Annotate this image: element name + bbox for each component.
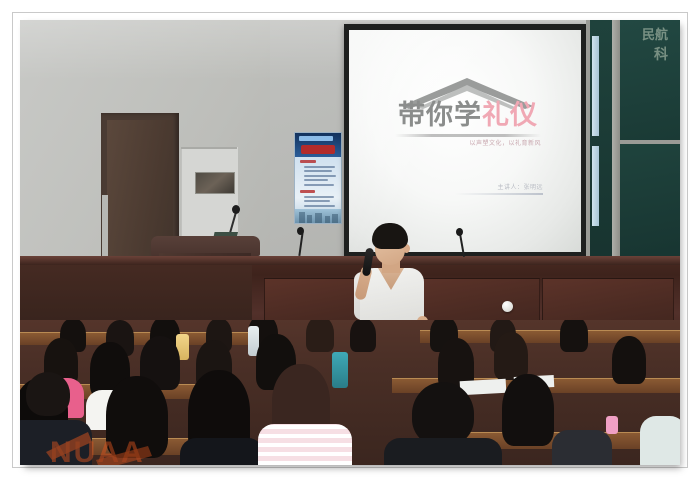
slide-title-pink: 礼仪 bbox=[482, 100, 538, 131]
chalkboard-glass-strip bbox=[592, 36, 599, 136]
wall-poster bbox=[294, 132, 342, 224]
audience-person-top bbox=[384, 438, 502, 465]
poster-text-line bbox=[304, 184, 334, 186]
small-item-pink bbox=[606, 416, 618, 434]
chalk-writing-line-1: 民航 bbox=[642, 24, 668, 43]
poster-building bbox=[299, 212, 305, 223]
audience-person bbox=[306, 320, 334, 352]
poster-text-line bbox=[304, 166, 335, 168]
poster-building bbox=[332, 214, 338, 223]
poster-section-heading bbox=[300, 160, 316, 163]
slide-title-underline bbox=[395, 134, 541, 137]
audience-person bbox=[612, 336, 646, 384]
audience-person-head bbox=[412, 382, 474, 446]
stage-mic-head bbox=[456, 228, 463, 236]
chalk-writing-line-2: 科 bbox=[654, 44, 668, 64]
chalkboard-divider bbox=[612, 20, 620, 270]
projection-screen: 带你学礼仪 以声塑文化，以礼育新风 主讲人：张明远 bbox=[349, 30, 581, 252]
chalkboard-lower-panel bbox=[620, 144, 680, 268]
poster-building bbox=[307, 215, 312, 223]
poster-text-line bbox=[304, 175, 336, 177]
audience-person bbox=[350, 320, 376, 352]
poster-text-line bbox=[304, 196, 334, 198]
stage-mic-head bbox=[297, 227, 304, 235]
gooseneck-mic-head bbox=[232, 205, 240, 214]
audience-person bbox=[494, 332, 528, 380]
slide-subtitle: 以声塑文化，以礼育新风 bbox=[435, 138, 541, 147]
slide-presenter: 主讲人：张明远 bbox=[457, 182, 543, 191]
wall-panel-top-rail bbox=[181, 147, 237, 149]
lecture-hall-photo: 带你学礼仪 以声塑文化，以礼育新风 主讲人：张明远 民航 科 bbox=[20, 20, 680, 465]
poster-section-heading bbox=[300, 190, 315, 193]
stage-speaker-knob bbox=[502, 301, 513, 312]
poster-text-line bbox=[304, 205, 335, 207]
poster-text-line bbox=[304, 200, 330, 202]
audience-area: NUAA bbox=[20, 320, 680, 465]
slide-title-gray: 带你学 bbox=[398, 100, 482, 131]
audience-person-foreground bbox=[502, 374, 554, 446]
stage-ledge bbox=[20, 256, 680, 265]
audience-person-top bbox=[180, 438, 264, 465]
audience-patterned-top bbox=[258, 424, 352, 465]
audience-bag bbox=[640, 416, 680, 465]
audience-person bbox=[560, 320, 588, 352]
speaker-right-sleeve bbox=[414, 272, 430, 320]
poster-text-line bbox=[304, 170, 332, 172]
audience-person-head bbox=[26, 372, 70, 416]
watermark: NUAA bbox=[28, 428, 178, 465]
slide-title: 带你学礼仪 bbox=[395, 100, 541, 132]
poster-building bbox=[315, 213, 322, 223]
water-bottle-teal bbox=[332, 352, 348, 388]
presenter-rule bbox=[455, 193, 543, 195]
speaker-hair bbox=[372, 223, 408, 249]
wall-sign bbox=[195, 172, 235, 194]
audience-person-top bbox=[552, 430, 612, 465]
poster-text-line bbox=[304, 179, 328, 181]
poster-ribbon bbox=[301, 145, 335, 154]
poster-title-band bbox=[299, 136, 333, 141]
poster-building bbox=[325, 216, 330, 223]
chalkboard-glass-strip bbox=[592, 146, 599, 226]
watermark-text: NUAA bbox=[50, 436, 145, 465]
photo-frame: 带你学礼仪 以声塑文化，以礼育新风 主讲人：张明远 民航 科 bbox=[0, 0, 700, 480]
